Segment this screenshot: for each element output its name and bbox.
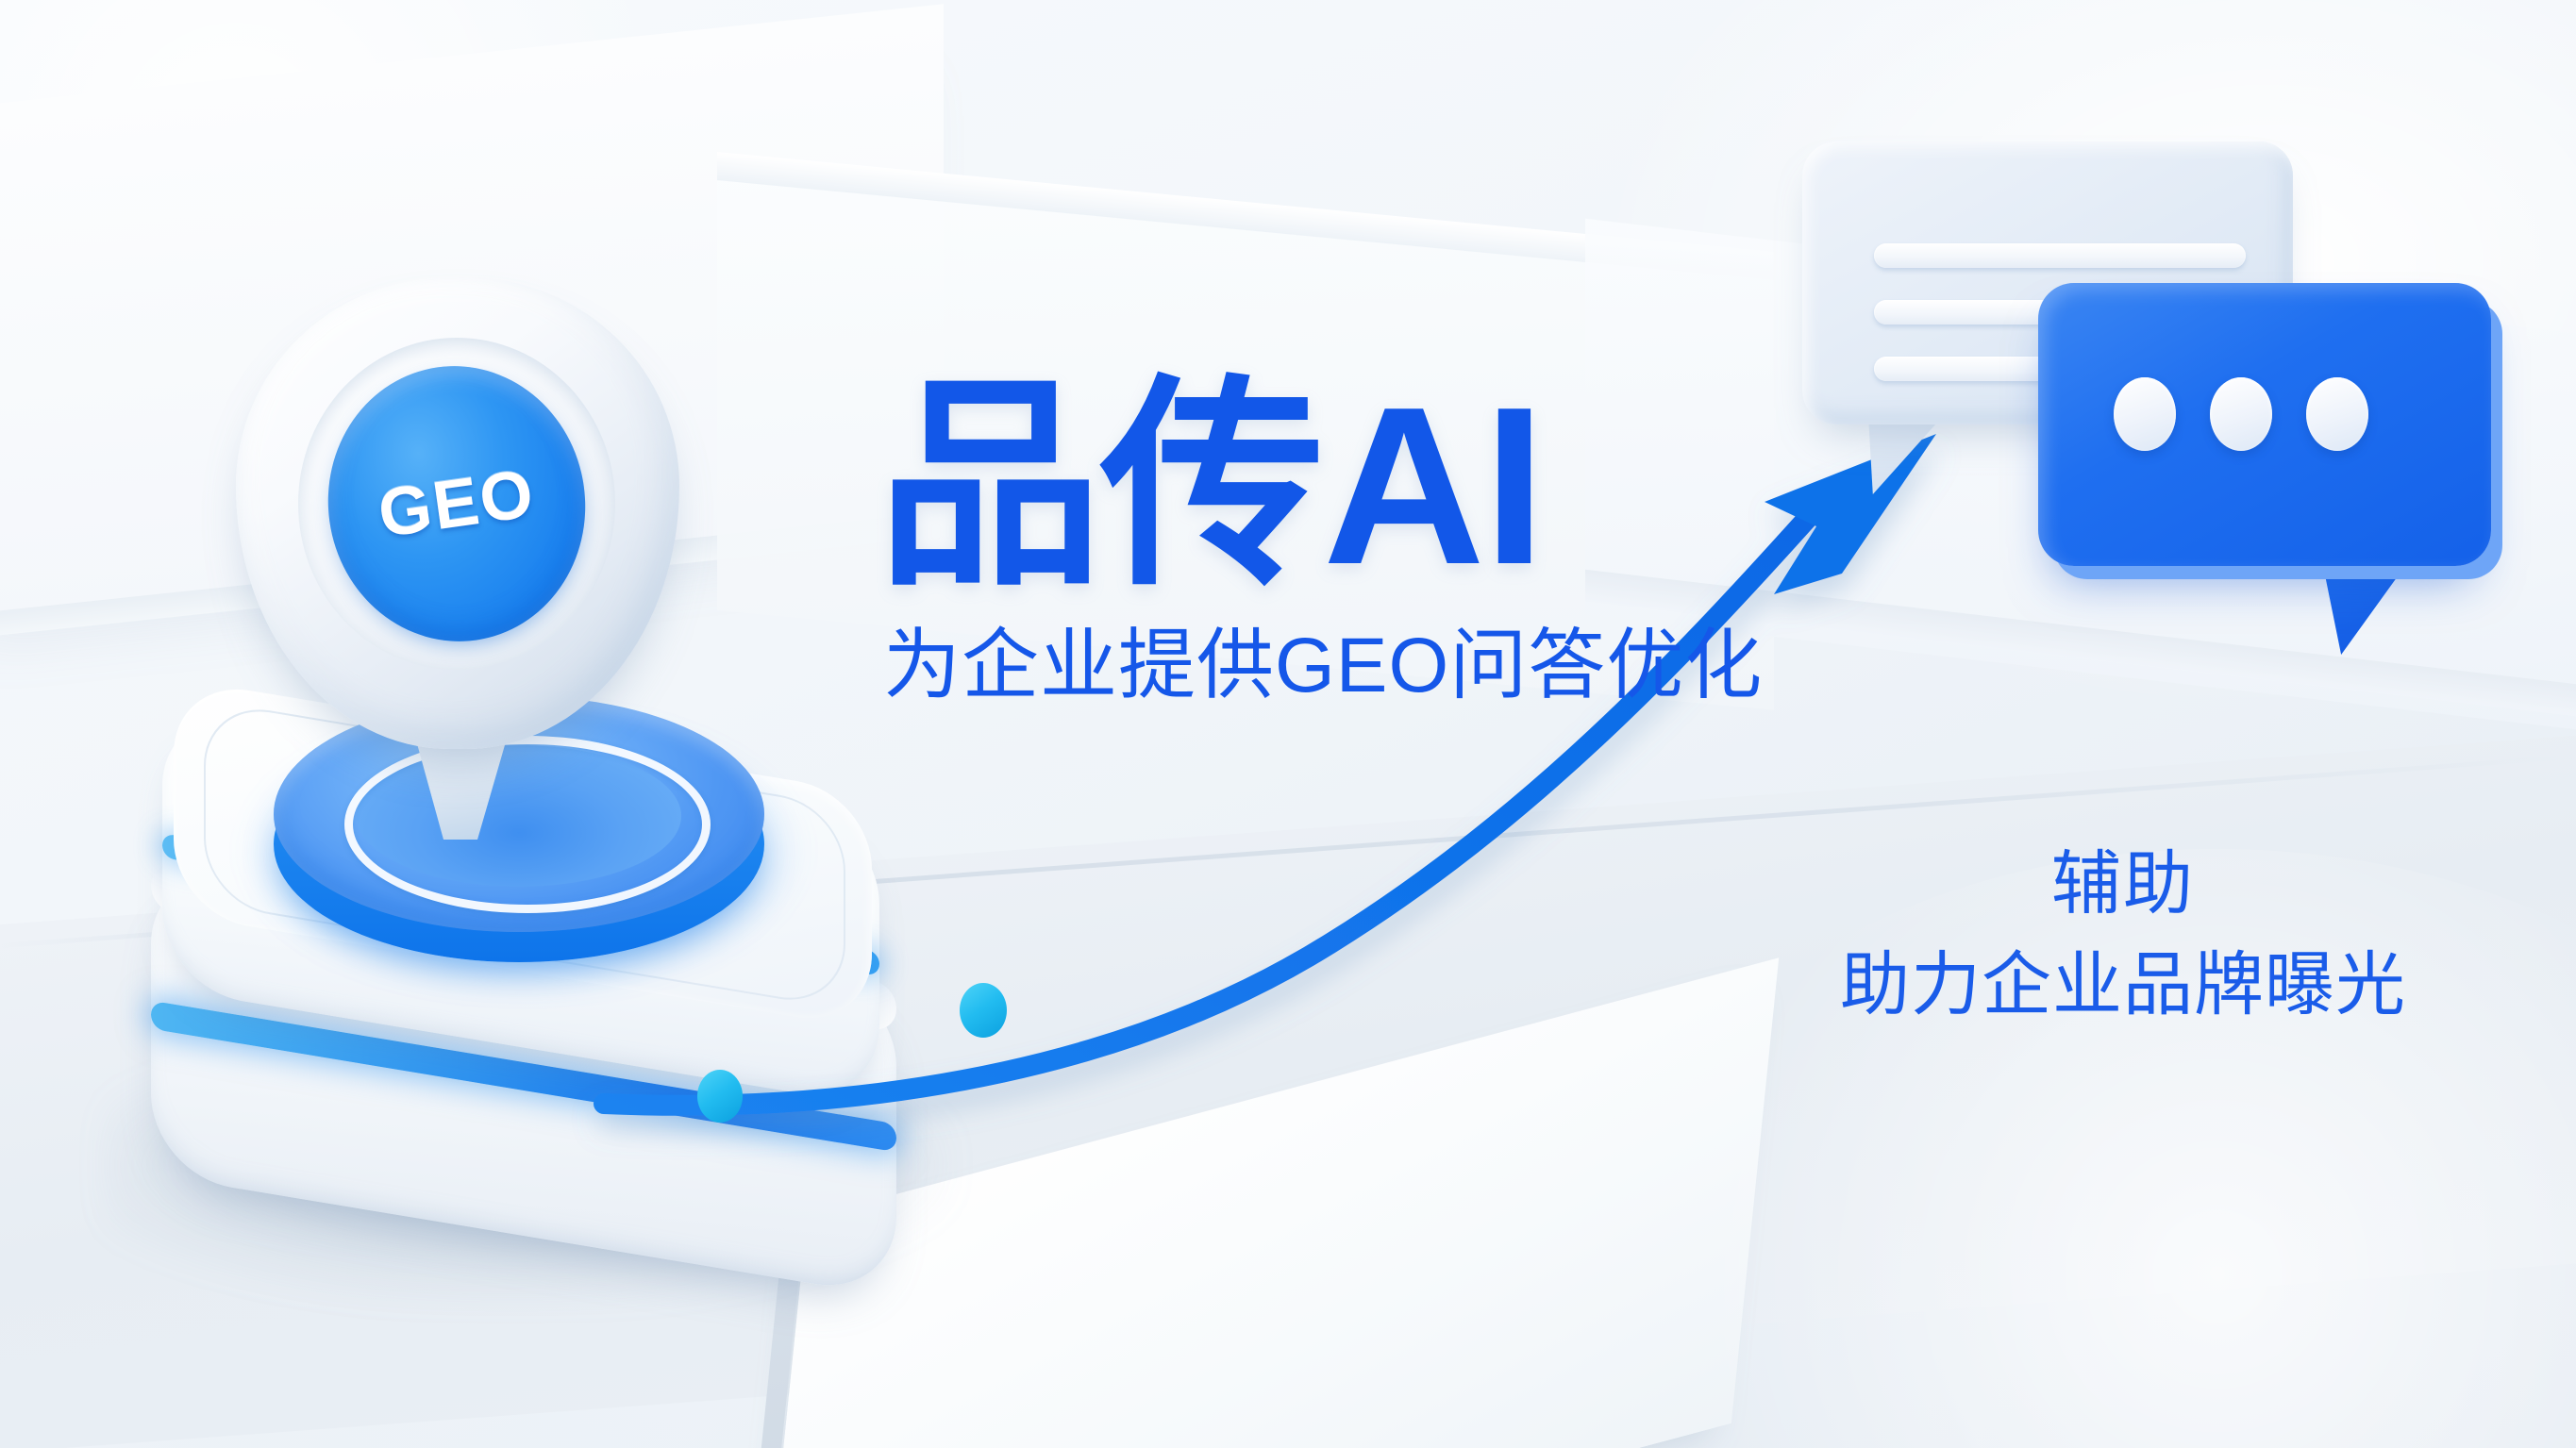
side-copy-block: 辅助 助力企业品牌曝光 (1793, 840, 2453, 1028)
chat-bubble-typing-tail (2321, 557, 2412, 655)
typing-dot (2210, 377, 2272, 451)
page-subtitle: 为企业提供GEO问答优化 (883, 623, 1783, 709)
side-copy-line-1: 辅助 (1793, 840, 2453, 927)
geo-label: GEO (310, 349, 603, 657)
chat-bubble-text-line (1874, 243, 2246, 268)
page-title: 品传AI (878, 373, 1783, 602)
chat-bubbles-illustration (1774, 113, 2576, 641)
hero-banner: GEO (0, 0, 2576, 1448)
chat-bubble-outline-tail (1868, 415, 1944, 494)
headline-block: 品传AI 为企业提供GEO问答优化 (878, 373, 1783, 709)
arrow-marker-2 (960, 983, 1007, 1038)
background-panel-center-edge (717, 152, 1774, 280)
arrow-marker-1 (697, 1070, 743, 1123)
disc-ring (344, 736, 711, 913)
side-copy-line-2: 助力企业品牌曝光 (1793, 940, 2453, 1028)
location-pin-illustration: GEO (113, 453, 981, 1302)
typing-dot (2306, 377, 2368, 451)
typing-dot (2114, 377, 2176, 451)
